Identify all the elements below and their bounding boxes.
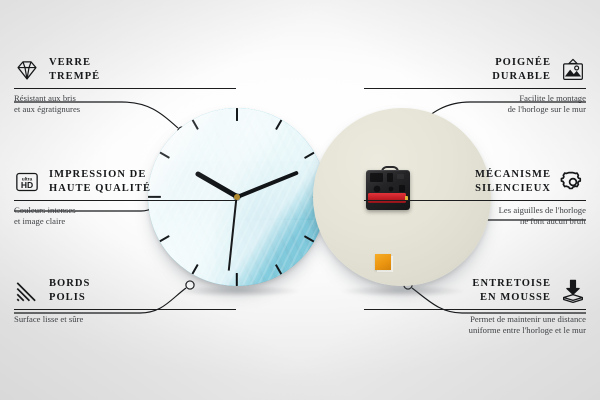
- feature-subtitle-line2: de l'horloge sur le mur: [364, 104, 586, 115]
- feature-subtitle: Permet de maintenir une distance uniform…: [364, 314, 586, 337]
- feature-subtitle: Résistant aux bris et aux égratignures: [14, 93, 236, 116]
- feature-title: BORDS POLIS: [49, 277, 90, 304]
- feature-title: POIGNÉE DURABLE: [492, 56, 551, 83]
- feature-heading: MÉCANISME SILENCIEUX: [364, 168, 586, 195]
- feature-subtitle: Couleurs intenses et image claire: [14, 205, 236, 228]
- hanging-picture-frame-icon: [560, 57, 586, 83]
- feature-subtitle-line1: Résistant aux bris: [14, 93, 236, 104]
- feature-subtitle: Les aiguilles de l'horloge ne font aucun…: [364, 205, 586, 228]
- feature-subtitle-line1: Couleurs intenses: [14, 205, 236, 216]
- feature-subtitle-line1: Permet de maintenir une distance: [364, 314, 586, 325]
- feature-impression-haute-qualite: ultra HD IMPRESSION DE HAUTE QUALITÉ Cou…: [14, 168, 236, 228]
- feature-subtitle-line1: Surface lisse et sûre: [14, 314, 236, 325]
- feature-verre-trempe: VERRE TREMPÉ Résistant aux bris et aux é…: [14, 56, 236, 116]
- feature-divider: [364, 309, 586, 310]
- feature-subtitle-line2: et image claire: [14, 216, 236, 227]
- feature-poignee-durable: POIGNÉE DURABLE Facilite le montage de l…: [364, 56, 586, 116]
- feature-subtitle: Surface lisse et sûre: [14, 314, 236, 325]
- feature-heading: ultra HD IMPRESSION DE HAUTE QUALITÉ: [14, 168, 236, 195]
- gear-icon: [560, 169, 586, 195]
- feature-title: ENTRETOISE EN MOUSSE: [472, 277, 551, 304]
- feature-entretoise-en-mousse: ENTRETOISE EN MOUSSE Permet de maintenir…: [364, 277, 586, 337]
- feature-subtitle-line2: ne font aucun bruit: [364, 216, 586, 227]
- feature-subtitle-line1: Les aiguilles de l'horloge: [364, 205, 586, 216]
- feature-subtitle-line2: et aux égratignures: [14, 104, 236, 115]
- feature-mecanisme-silencieux: MÉCANISME SILENCIEUX Les aiguilles de l'…: [364, 168, 586, 228]
- feature-title: MÉCANISME SILENCIEUX: [475, 168, 551, 195]
- svg-text:HD: HD: [21, 180, 33, 190]
- feature-subtitle: Facilite le montage de l'horloge sur le …: [364, 93, 586, 116]
- feature-heading: VERRE TREMPÉ: [14, 56, 236, 83]
- product-feature-infographic: VERRE TREMPÉ Résistant aux bris et aux é…: [0, 0, 600, 400]
- feature-divider: [364, 88, 586, 89]
- feature-subtitle-line2: uniforme entre l'horloge et le mur: [364, 325, 586, 336]
- feature-bords-polis: BORDS POLIS Surface lisse et sûre: [14, 277, 236, 325]
- feature-divider: [14, 88, 236, 89]
- polished-edge-icon: [14, 278, 40, 304]
- feature-title: VERRE TREMPÉ: [49, 56, 100, 83]
- feature-heading: BORDS POLIS: [14, 277, 236, 304]
- feature-divider: [14, 309, 236, 310]
- feature-divider: [14, 200, 236, 201]
- ultra-hd-icon: ultra HD: [14, 169, 40, 195]
- feature-heading: ENTRETOISE EN MOUSSE: [364, 277, 586, 304]
- feature-title: IMPRESSION DE HAUTE QUALITÉ: [49, 168, 151, 195]
- diamond-icon: [14, 57, 40, 83]
- feature-subtitle-line1: Facilite le montage: [364, 93, 586, 104]
- feature-divider: [364, 200, 586, 201]
- foam-spacer-press-icon: [560, 278, 586, 304]
- feature-heading: POIGNÉE DURABLE: [364, 56, 586, 83]
- foam-spacer-pad: [375, 254, 391, 270]
